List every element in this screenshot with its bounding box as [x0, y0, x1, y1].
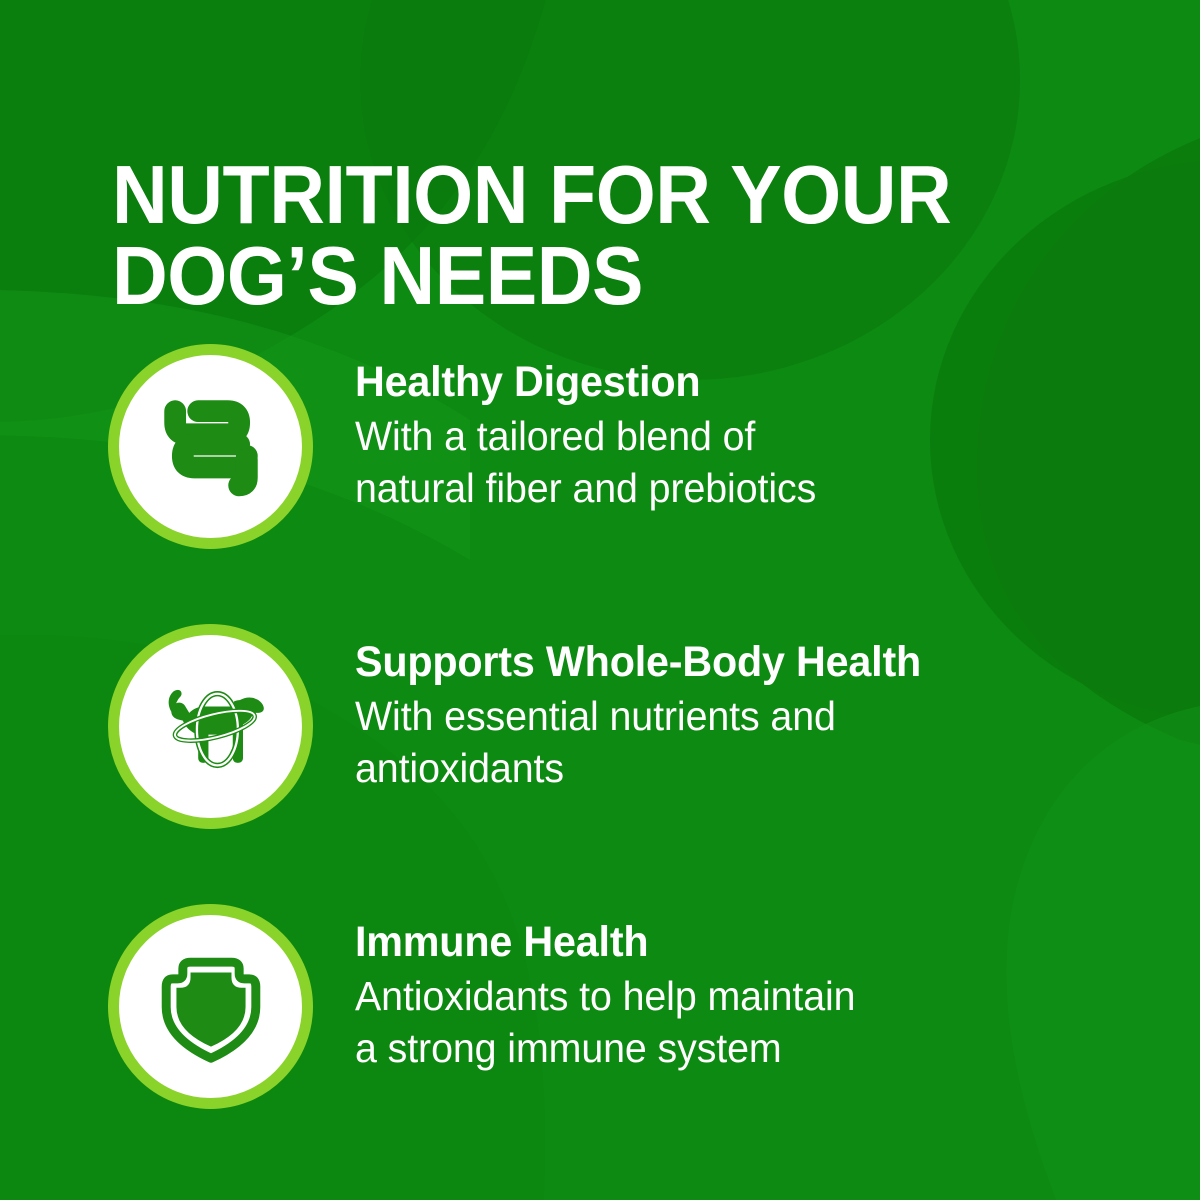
- feature-icon-badge: [108, 344, 313, 549]
- feature-icon-badge: [108, 904, 313, 1109]
- feature-description: Antioxidants to help maintain a strong i…: [355, 970, 1166, 1075]
- feature-text-block: Immune Health Antioxidants to help maint…: [355, 904, 1200, 1075]
- feature-icon-badge: [108, 624, 313, 829]
- feature-item-whole-body-health: Supports Whole-Body Health With essentia…: [0, 624, 1200, 834]
- feature-title: Supports Whole-Body Health: [355, 640, 1166, 686]
- feature-text-block: Supports Whole-Body Health With essentia…: [355, 624, 1200, 795]
- page-title: NUTRITION FOR YOUR DOG’S NEEDS: [112, 154, 1023, 317]
- feature-description: With a tailored blend of natural fiber a…: [355, 410, 1166, 515]
- poster-content: NUTRITION FOR YOUR DOG’S NEEDS Healthy D…: [0, 0, 1200, 1200]
- intestine-icon: [147, 383, 275, 511]
- feature-item-healthy-digestion: Healthy Digestion With a tailored blend …: [0, 344, 1200, 554]
- dog-with-orbit-rings-icon: [147, 663, 275, 791]
- feature-title: Healthy Digestion: [355, 360, 1166, 406]
- feature-text-block: Healthy Digestion With a tailored blend …: [355, 344, 1200, 515]
- nutrition-poster: NUTRITION FOR YOUR DOG’S NEEDS Healthy D…: [0, 0, 1200, 1200]
- feature-item-immune-health: Immune Health Antioxidants to help maint…: [0, 904, 1200, 1114]
- shield-icon: [147, 943, 275, 1071]
- feature-title: Immune Health: [355, 920, 1166, 966]
- feature-description: With essential nutrients and antioxidant…: [355, 690, 1166, 795]
